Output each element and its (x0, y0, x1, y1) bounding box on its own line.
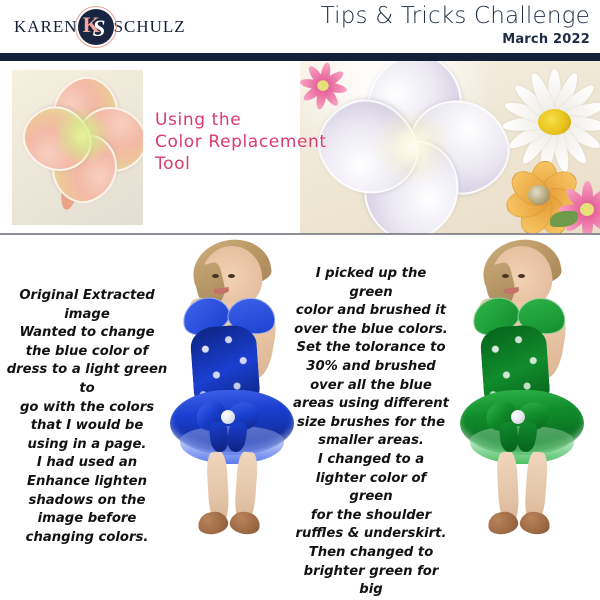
shoe (228, 510, 261, 537)
eye (228, 274, 235, 278)
bow-jewel (511, 410, 525, 424)
shoe (518, 510, 551, 537)
clover-thumbnail (12, 70, 143, 225)
bow-jewel (221, 410, 235, 424)
brand-logo: KAREN K S SCHULZ (14, 6, 186, 48)
orange-flower-center (528, 185, 550, 205)
pink-flower-icon (300, 61, 348, 111)
skirt-bow (196, 402, 258, 442)
pink-flower-center (580, 203, 594, 216)
eye (502, 274, 509, 278)
logo-monogram-icon: K S (74, 5, 118, 49)
issue-date: March 2022 (321, 32, 590, 47)
shamrock-glow (372, 105, 454, 187)
eye (518, 274, 525, 278)
logo-word-right: SCHULZ (114, 17, 186, 37)
photo-before-blue-dress (166, 240, 298, 560)
page-header: KAREN K S SCHULZ Tips & Tricks Challenge… (0, 0, 600, 53)
eye (212, 274, 219, 278)
banner: Using the Color Replacement Tool (0, 61, 600, 233)
header-title-block: Tips & Tricks Challenge March 2022 (321, 4, 590, 47)
shamrock-glow (54, 108, 110, 164)
peach-shamrock-icon (22, 78, 138, 218)
banner-artwork-right (300, 61, 600, 233)
pink-flower-center (317, 80, 328, 91)
header-rule (0, 53, 600, 61)
caption-original: Original Extracted image Wanted to chang… (6, 287, 168, 547)
photo-after-green-dress (456, 240, 588, 560)
page-root: KAREN K S SCHULZ Tips & Tricks Challenge… (0, 0, 600, 600)
caption-steps: I picked up the green color and brushed … (292, 265, 450, 600)
logo-word-left: KAREN (14, 17, 78, 37)
banner-title: Using the Color Replacement Tool (155, 109, 327, 175)
daisy-center (538, 109, 571, 135)
skirt-bow (486, 402, 548, 442)
page-title: Tips & Tricks Challenge (321, 4, 590, 29)
content-area: Original Extracted image Wanted to chang… (0, 235, 600, 600)
logo-letter-s: S (93, 17, 106, 40)
